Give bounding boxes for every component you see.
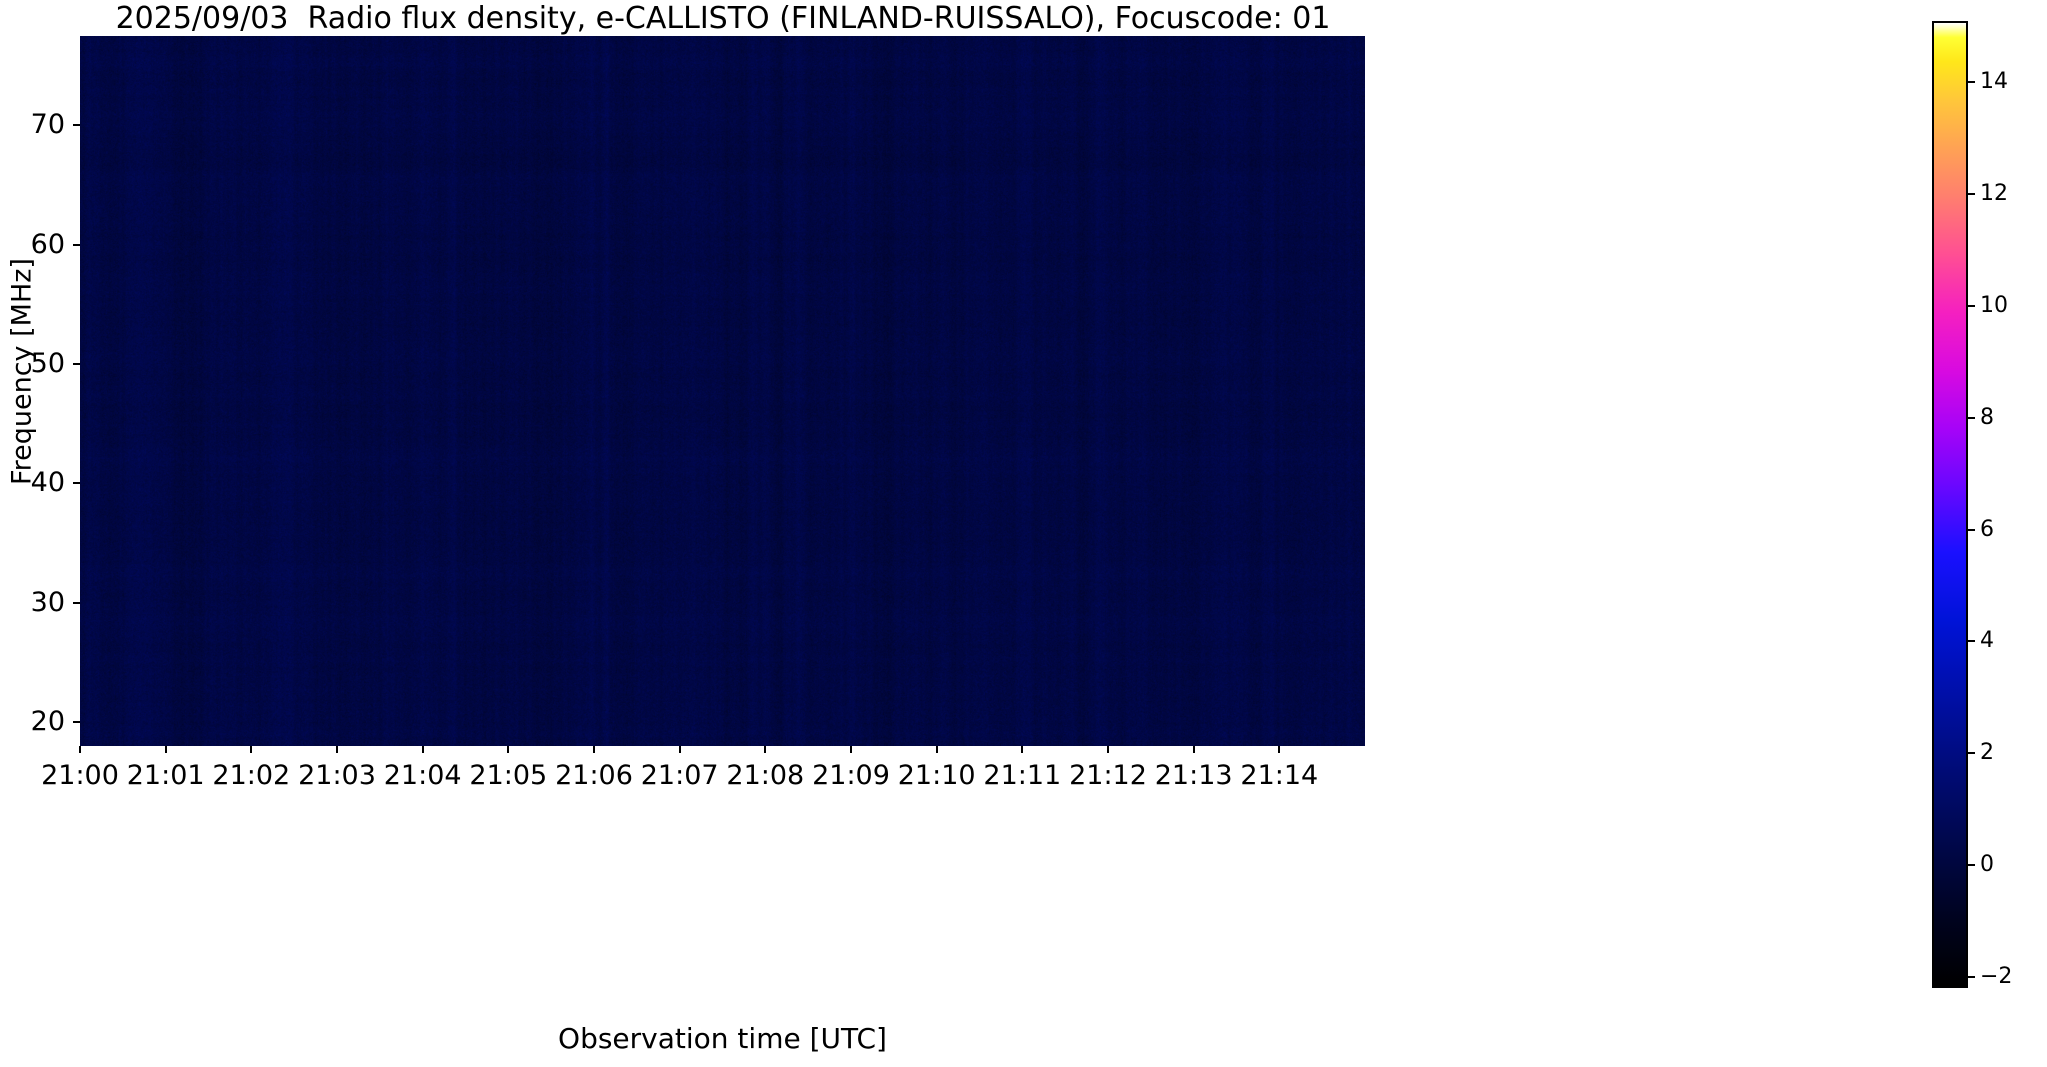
colorbar-tick-mark (1968, 305, 1975, 307)
colorbar-tick-mark (1968, 193, 1975, 195)
colorbar-tick-mark (1968, 81, 1975, 83)
colorbar-tick-mark (1968, 976, 1975, 978)
x-axis-tick-mark (593, 746, 595, 753)
y-axis-tick-mark (73, 244, 80, 246)
colorbar-tick-label: 6 (1980, 519, 1994, 541)
y-axis-tick-mark (73, 721, 80, 723)
y-axis-tick-mark (73, 363, 80, 365)
y-axis-tick-mark (73, 124, 80, 126)
x-axis-tick-mark (79, 746, 81, 753)
spectrogram-figure: 2025/09/03 Radio flux density, e-CALLIST… (0, 0, 2047, 1067)
x-axis-tick-mark (764, 746, 766, 753)
x-axis-tick-mark (165, 746, 167, 753)
x-axis-tick-mark (1107, 746, 1109, 753)
colorbar-tick-label: 0 (1980, 854, 1994, 876)
colorbar-tick-label: 2 (1980, 742, 1994, 764)
spectrogram-image (80, 36, 1365, 746)
colorbar-tick-mark (1968, 529, 1975, 531)
colorbar-tick-mark (1968, 417, 1975, 419)
y-axis-tick-mark (73, 482, 80, 484)
y-axis-tick-label: 70 (0, 111, 65, 138)
colorbar-gradient (1934, 23, 1966, 986)
colorbar-tick-label: 8 (1980, 407, 1994, 429)
y-axis-tick-mark (73, 602, 80, 604)
x-axis-label: Observation time [UTC] (80, 1022, 1365, 1055)
x-axis-tick-mark (250, 746, 252, 753)
colorbar-tick-label: 10 (1980, 295, 2008, 317)
colorbar-tick-label: 12 (1980, 183, 2008, 205)
colorbar-tick-mark (1968, 752, 1975, 754)
x-axis-tick-mark (336, 746, 338, 753)
x-axis-tick-mark (422, 746, 424, 753)
x-axis-tick-mark (850, 746, 852, 753)
colorbar-tick-label: 4 (1980, 630, 1994, 652)
x-axis-tick-mark (679, 746, 681, 753)
x-axis-tick-mark (936, 746, 938, 753)
x-axis-tick-mark (1278, 746, 1280, 753)
heatmap-plot-area (80, 36, 1365, 746)
colorbar-tick-mark (1968, 640, 1975, 642)
colorbar-tick-label: 14 (1980, 71, 2008, 93)
colorbar-tick-mark (1968, 864, 1975, 866)
x-axis-tick-mark (1021, 746, 1023, 753)
colorbar (1932, 21, 1968, 988)
x-axis-tick-label: 21:14 (1199, 762, 1359, 789)
x-axis-tick-mark (1193, 746, 1195, 753)
page-title: 2025/09/03 Radio flux density, e-CALLIST… (80, 2, 1366, 36)
y-axis-tick-label: 30 (0, 589, 65, 616)
y-axis-tick-label: 20 (0, 708, 65, 735)
colorbar-tick-label: −2 (1980, 966, 2012, 988)
y-axis-label: Frequency [MHz] (7, 202, 38, 542)
x-axis-tick-mark (507, 746, 509, 753)
